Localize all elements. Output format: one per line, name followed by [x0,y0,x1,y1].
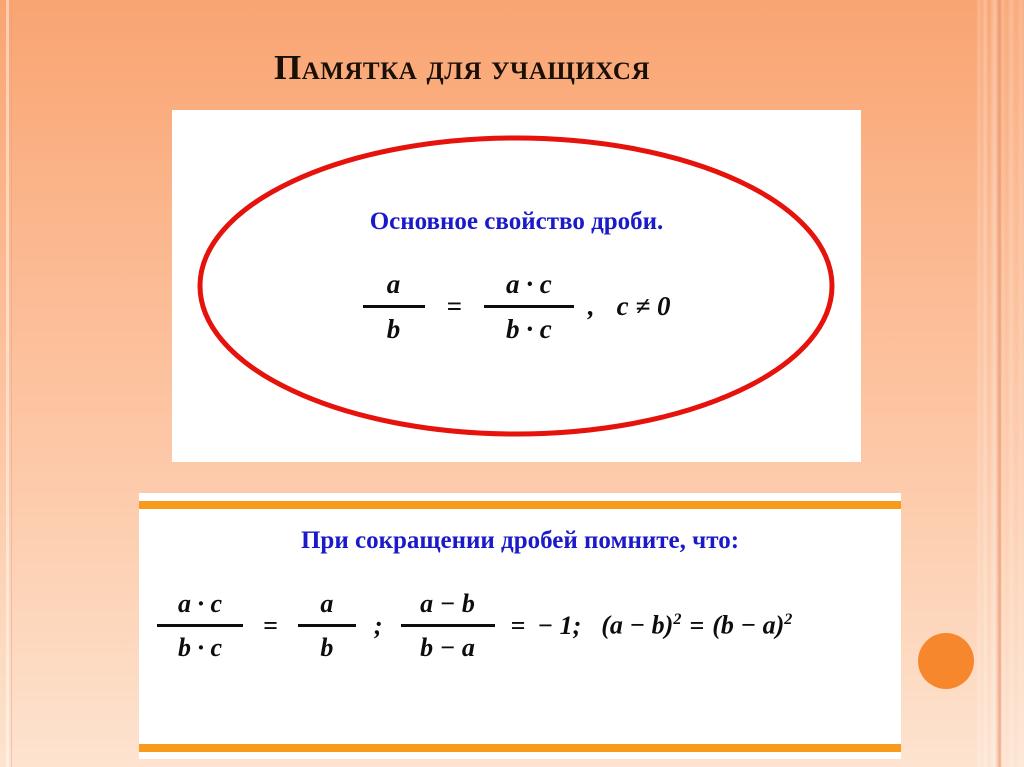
semicolon-separator: ; [374,613,383,639]
fraction-bar [298,624,356,627]
fraction-bar [401,624,495,627]
fraction-denominator: b − a [414,634,481,661]
panel-two-formulas: a · c b · c = a b ; a − b b − a = − 1; (… [157,590,901,662]
value-minus-one: − 1; [537,613,581,639]
orange-bottom-bar [139,744,901,752]
fraction-denominator: b [314,634,339,661]
condition-c-not-zero: c ≠ 0 [617,293,671,320]
fraction-numerator: a · c [500,270,558,298]
identity-equals-sign: = [689,613,704,639]
fraction-numerator: a [314,590,339,617]
left-edge-highlight-line [6,0,9,767]
orange-circle-decoration [918,633,974,689]
left-edge-shadow-line [11,0,12,767]
panel-two-heading: При сокращении дробей помните, что: [139,527,901,555]
fraction-ac-over-bc: a · c b · c [484,270,574,344]
fraction-a-minus-b-over-b-minus-a: a − b b − a [401,590,495,662]
equals-sign: = [447,293,462,320]
fraction-ac-over-bc: a · c b · c [157,590,243,662]
fraction-denominator: b · c [500,315,558,343]
right-edge-stripes-decoration [976,0,1024,767]
identity-right-expression: (b − a)2 [712,612,792,639]
fraction-bar [363,305,425,308]
page-title: Памятка для учащихся [0,48,924,88]
fraction-a-over-b: a b [363,270,425,344]
fraction-a-over-b: a b [298,590,356,662]
panel-one-heading: Основное свойство дроби. [172,208,861,236]
orange-top-bar [139,501,901,509]
identity-right-exponent: 2 [784,611,792,628]
equals-sign-first: = [263,613,278,639]
panel-basic-property: Основное свойство дроби. a b = a · c b ·… [172,110,861,462]
equals-sign-second: = [511,613,526,639]
identity-right-base: (b − a) [712,611,784,640]
slide-canvas: Памятка для учащихся Основное свойство д… [0,0,1024,767]
identity-left-exponent: 2 [673,611,681,628]
identity-left-base: (a − b) [601,611,673,640]
fraction-numerator: a − b [414,590,481,617]
fraction-denominator: b [381,315,407,343]
fraction-denominator: b · c [172,634,228,661]
fraction-bar [484,305,574,308]
fraction-bar [157,624,243,627]
comma-separator: , [588,293,595,320]
fraction-numerator: a · c [172,590,228,617]
identity-left-expression: (a − b)2 [601,612,681,639]
fraction-numerator: a [381,270,407,298]
panel-reduction-rules: При сокращении дробей помните, что: a · … [139,493,901,759]
panel-one-formula: a b = a · c b · c , c ≠ 0 [172,270,861,344]
